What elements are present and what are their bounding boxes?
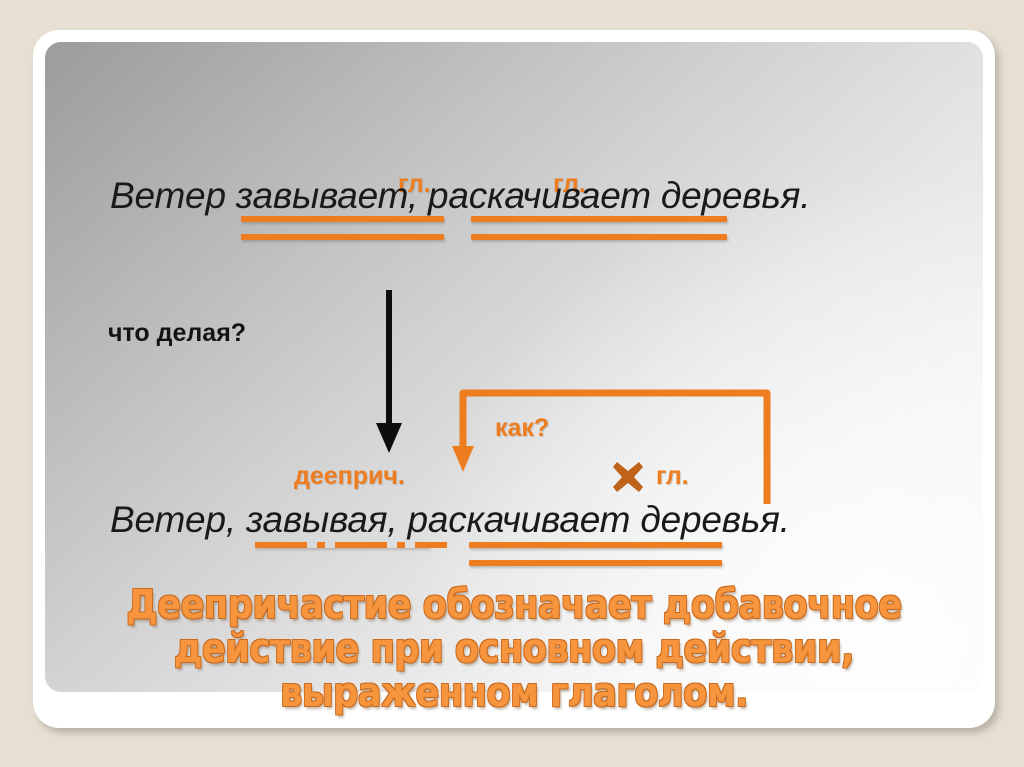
down-arrow-icon xyxy=(374,290,404,455)
predicate-underline-3b xyxy=(469,560,722,566)
tag-verb-third: гл. xyxy=(656,462,689,491)
content-panel: гл. гл. Ветер завывает, раскачивает дере… xyxy=(45,42,983,692)
predicate-underline-3a xyxy=(469,542,722,548)
multiply-icon xyxy=(611,460,645,494)
question-label-orange: как? xyxy=(495,414,549,443)
predicate-underline-1a xyxy=(241,216,444,222)
predicate-underline-1b xyxy=(241,234,444,240)
predicate-underline-2a xyxy=(471,216,727,222)
example-sentence-one: Ветер завывает, раскачивает деревья. xyxy=(110,175,810,217)
question-label-black: что делая? xyxy=(108,319,246,348)
predicate-underline-2b xyxy=(471,234,727,240)
tag-participle: дееприч. xyxy=(294,462,405,491)
example-sentence-two: Ветер, завывая, раскачивает деревья. xyxy=(110,499,790,541)
slide-card: гл. гл. Ветер завывает, раскачивает дере… xyxy=(33,30,995,728)
adverbial-underline xyxy=(255,542,430,548)
